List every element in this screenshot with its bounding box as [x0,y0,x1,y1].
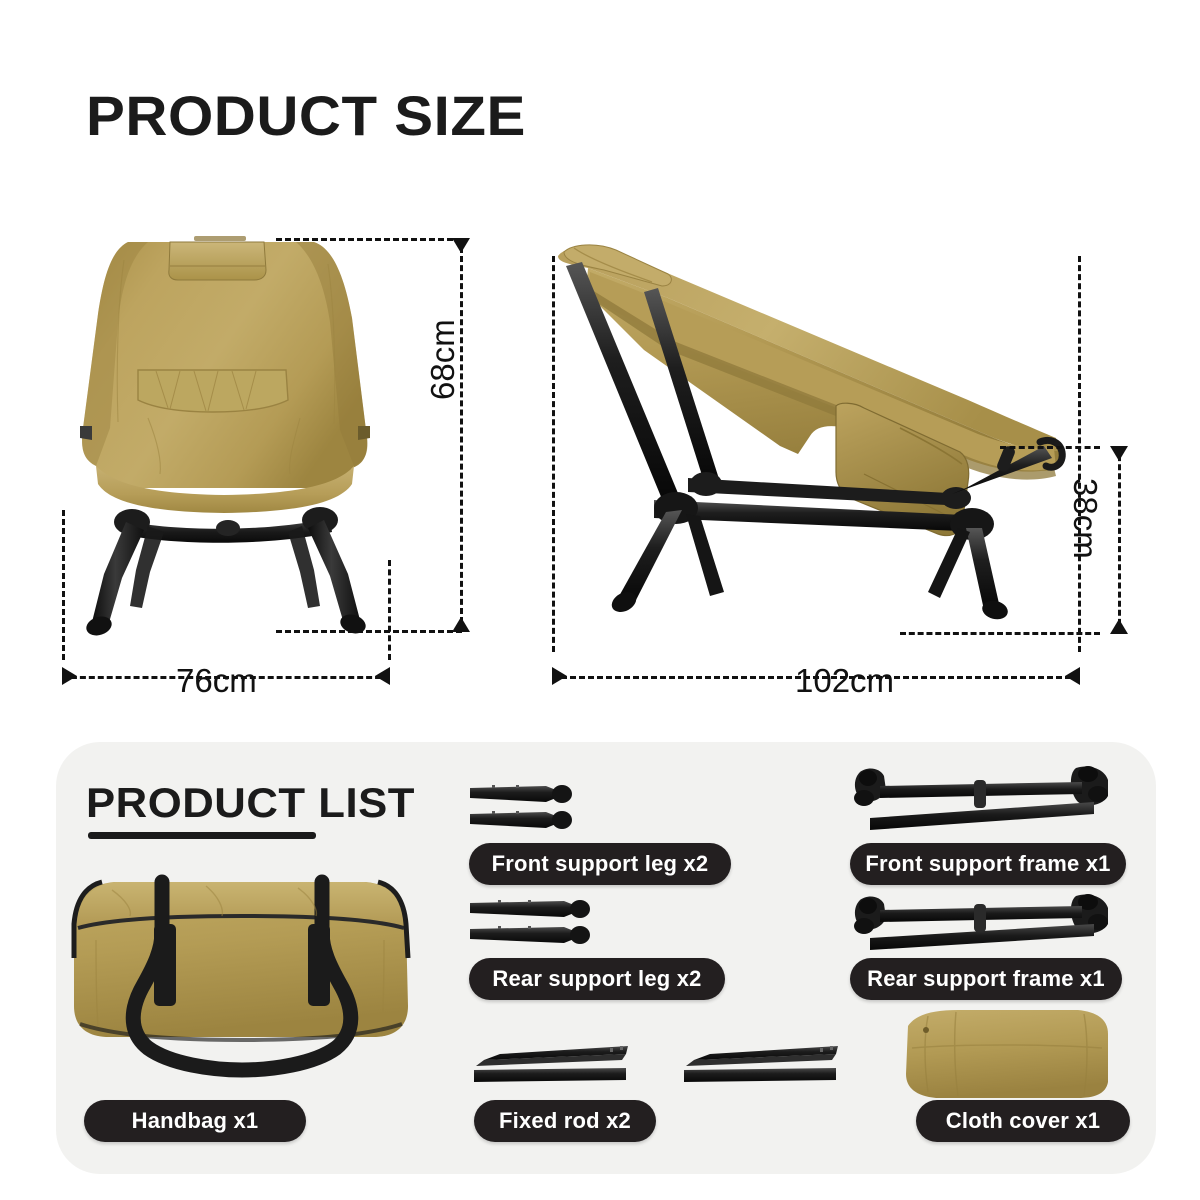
front-support-frame-label: Front support frame x1 [850,843,1126,885]
side-view-chair-illustration [548,232,1088,640]
side-hub-left-upper [690,472,722,496]
guide-height-front [460,238,463,632]
product-list-title-underline [88,832,316,839]
dimension-width-front: 76cm [176,662,257,700]
side-hub-right-upper [941,487,971,509]
guide-bottom-front [276,630,462,633]
arrow-height38-top [1110,446,1128,461]
rear-support-frame-label: Rear support frame x1 [850,958,1122,1000]
guide-right-side [1078,256,1081,652]
side-leg-left-rear [686,514,724,596]
front-view-chair [52,222,402,642]
product-size-title: PRODUCT SIZE [86,86,526,146]
dimension-height-side: 38cm [1066,478,1104,559]
front-view-chair-illustration [52,222,402,642]
fixed-rod-illustration [470,1024,900,1094]
headrest-strap [194,236,246,241]
front-support-frame-illustration [850,762,1120,842]
product-list-title: PRODUCT LIST [86,780,415,826]
handbag-handle-tab-left [154,924,176,1006]
arrow-length-right-side [1065,667,1080,685]
side-view-chair [548,232,1088,640]
cloth-cover-eyelet [923,1027,929,1033]
handbag-handle-tab-right [308,924,330,1006]
arrow-length-left-side [552,667,567,685]
guide-left-front [62,510,65,660]
handbag-illustration [66,866,416,1086]
guide-seat-height-side [1000,446,1100,449]
rear-support-leg-illustration [468,897,608,949]
chair-headrest-pillow [169,242,266,280]
rear-leg-1 [470,900,590,918]
front-support-leg-illustration [468,782,588,834]
fixed-rod-1 [474,1046,628,1082]
arrow-height38-bottom [1110,619,1128,634]
side-leg-left-front [618,510,682,604]
front-leg-1 [470,785,572,803]
cloth-cover-illustration [902,1008,1112,1100]
guide-top-front [276,238,462,241]
arrow-width-right-front [375,667,390,685]
rear-support-leg-label: Rear support leg x2 [469,958,725,1000]
dimension-length-side: 102cm [795,662,894,700]
fixed-rod-2 [684,1046,838,1082]
arrow-width-left-front [62,667,77,685]
guide-right-front [388,560,391,660]
front-support-leg-label: Front support leg x2 [469,843,731,885]
side-tab-right [358,426,370,440]
guide-height38-side [1118,446,1121,634]
guide-bottom-side [900,632,1100,635]
cloth-cover-label: Cloth cover x1 [916,1100,1130,1142]
front-leg-2 [470,811,572,829]
product-infographic: PRODUCT SIZE [0,0,1200,1200]
cloth-cover-body [906,1010,1108,1098]
fixed-rod-label: Fixed rod x2 [474,1100,656,1142]
arrow-height-top-front [452,238,470,253]
frame-center-clamp [974,780,986,808]
handbag-label: Handbag x1 [84,1100,306,1142]
rear-leg-2 [470,926,590,944]
frame-hub-center [216,520,240,536]
dimension-height-front: 68cm [424,319,462,400]
rear-frame-center-clamp [974,904,986,932]
front-leg-right [308,520,360,624]
arrow-height-bottom-front [452,617,470,632]
side-leg-right-front [928,528,970,598]
side-leg-right-rear [966,528,1000,610]
guide-left-side [552,256,555,652]
rear-support-frame-illustration [850,888,1120,960]
side-tab-left [80,426,92,440]
